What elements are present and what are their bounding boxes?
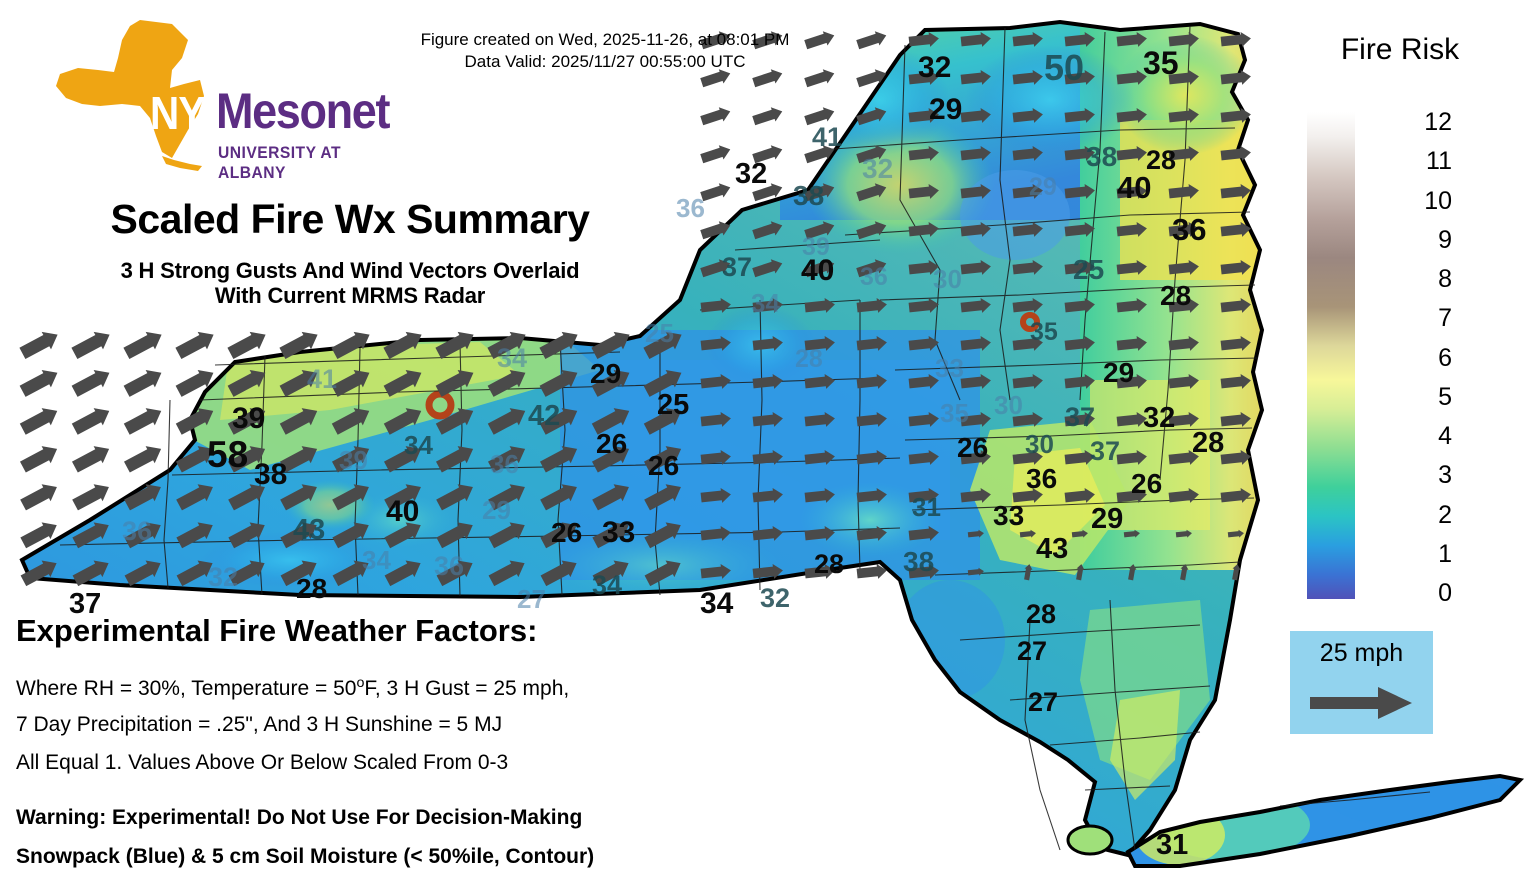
data-valid-timestamp: Data Valid: 2025/11/27 00:55:00 UTC bbox=[295, 52, 915, 72]
wind-arrow-icon bbox=[751, 104, 784, 128]
wind-arrow-icon bbox=[70, 402, 114, 438]
wind-arrow-icon bbox=[122, 402, 166, 438]
colorbar-tick-12: 12 bbox=[1398, 108, 1452, 137]
factors-heading: Experimental Fire Weather Factors: bbox=[16, 613, 537, 649]
factor-line-3: All Equal 1. Values Above Or Below Scale… bbox=[16, 751, 508, 775]
staten-island bbox=[1068, 826, 1112, 854]
colorbar-tick-3: 3 bbox=[1398, 461, 1452, 490]
colorbar-tick-2: 2 bbox=[1398, 501, 1452, 530]
colorbar-tick-0: 0 bbox=[1398, 579, 1452, 608]
wind-arrow-icon bbox=[70, 364, 114, 400]
wind-arrow-icon bbox=[699, 104, 732, 128]
factor-1-part-a: Where RH = 30%, Temperature = 50 bbox=[16, 677, 356, 700]
page-subtitle-line2: With Current MRMS Radar bbox=[0, 283, 700, 309]
wind-arrow-icon bbox=[19, 479, 62, 514]
logo-university-text: UNIVERSITY AT ALBANY bbox=[218, 143, 369, 183]
wind-arrow-icon bbox=[18, 364, 62, 400]
factor-1-part-b: F, 3 H Gust = 25 mph, bbox=[364, 677, 569, 700]
page-title: Scaled Fire Wx Summary bbox=[0, 196, 700, 243]
colorbar-tick-6: 6 bbox=[1398, 344, 1452, 373]
wind-arrow-icon bbox=[174, 326, 219, 362]
wind-speed-legend: 25 mph bbox=[1290, 631, 1433, 734]
wind-arrow-icon bbox=[699, 180, 732, 204]
wind-legend-label: 25 mph bbox=[1290, 639, 1433, 668]
wind-arrow-icon bbox=[122, 440, 165, 475]
colorbar-tick-4: 4 bbox=[1398, 422, 1452, 451]
wind-arrow-icon bbox=[70, 440, 113, 475]
wind-arrow-icon bbox=[70, 326, 115, 362]
colorbar-tick-1: 1 bbox=[1398, 540, 1452, 569]
wind-arrow-icon bbox=[803, 104, 836, 128]
wind-arrow-icon bbox=[699, 142, 732, 166]
wind-arrow-icon bbox=[18, 402, 62, 438]
colorbar-tick-7: 7 bbox=[1398, 304, 1452, 333]
wind-arrow-icon bbox=[18, 440, 61, 475]
wind-arrow-icon bbox=[18, 326, 63, 362]
factor-line-2: 7 Day Precipitation = .25", And 3 H Suns… bbox=[16, 713, 502, 737]
wind-arrow-icon bbox=[751, 142, 784, 166]
fire-risk-colorbar bbox=[1307, 112, 1355, 599]
wind-arrow-icon bbox=[122, 326, 167, 362]
colorbar-tick-10: 10 bbox=[1398, 187, 1452, 216]
colorbar-tick-11: 11 bbox=[1398, 147, 1452, 176]
colorbar-tick-5: 5 bbox=[1398, 383, 1452, 412]
colorbar-tick-9: 9 bbox=[1398, 226, 1452, 255]
wind-arrow-icon bbox=[1310, 686, 1413, 720]
factor-line-1: Where RH = 30%, Temperature = 50oF, 3 H … bbox=[16, 675, 569, 701]
wind-arrow-icon bbox=[122, 364, 166, 400]
colorbar-title: Fire Risk bbox=[1300, 33, 1500, 67]
warning-line-2: Snowpack (Blue) & 5 cm Soil Moisture (< … bbox=[16, 845, 594, 869]
colorbar-tick-8: 8 bbox=[1398, 265, 1452, 294]
figure-created-timestamp: Figure created on Wed, 2025-11-26, at 08… bbox=[295, 30, 915, 50]
fire-weather-map-page: 3250352941382832403229383636374025283936… bbox=[0, 0, 1536, 876]
warning-line-1: Warning: Experimental! Do Not Use For De… bbox=[16, 806, 582, 830]
page-subtitle-line1: 3 H Strong Gusts And Wind Vectors Overla… bbox=[0, 258, 700, 284]
logo-mesonet-text: Mesonet bbox=[216, 82, 389, 140]
